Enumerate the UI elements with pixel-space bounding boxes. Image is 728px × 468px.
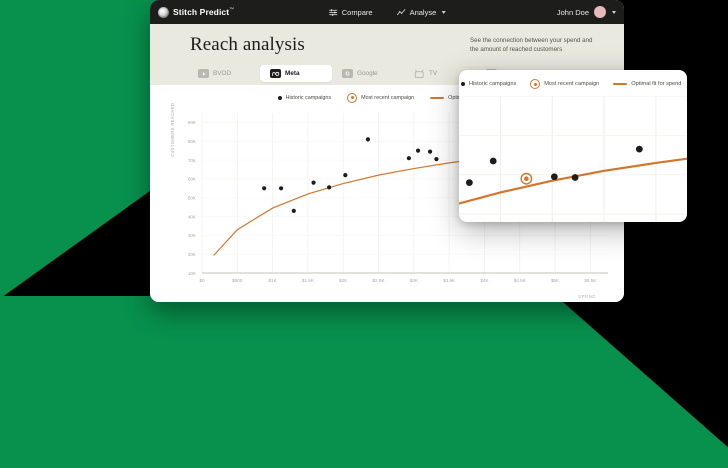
legend-dot-icon — [461, 82, 465, 86]
svg-text:$1.5K: $1.5K — [302, 278, 315, 283]
nav-item-compare[interactable]: Compare — [329, 8, 373, 17]
svg-text:30K: 30K — [188, 233, 197, 238]
page-subtitle: See the connection between your spend an… — [470, 37, 594, 55]
stitch-predict-logo-icon — [158, 7, 169, 18]
popup-legend-label-fit: Optimal fit for spend — [631, 81, 681, 87]
google-g-icon: G — [342, 69, 353, 78]
svg-text:90K: 90K — [188, 120, 197, 125]
tab-label-google: Google — [357, 70, 378, 77]
svg-text:$2K: $2K — [339, 278, 348, 283]
nav-label-compare: Compare — [342, 8, 373, 17]
user-menu[interactable]: John Doe — [557, 6, 616, 18]
svg-text:$1K: $1K — [269, 278, 278, 283]
nav-item-analyse[interactable]: Analyse — [397, 8, 446, 17]
chevron-down-icon — [441, 11, 445, 14]
legend-dot-icon — [278, 96, 282, 100]
svg-text:60K: 60K — [188, 177, 197, 182]
svg-text:$4.5K: $4.5K — [514, 278, 527, 283]
magnified-scatter-svg — [459, 96, 687, 222]
svg-text:70K: 70K — [188, 158, 197, 163]
analytics-icon — [397, 8, 406, 17]
svg-text:$3.5K: $3.5K — [443, 278, 456, 283]
popup-legend-item-recent: Most recent campaign — [530, 79, 599, 89]
app-topbar: Stitch Predict™ — [150, 0, 624, 24]
chevron-down-icon — [612, 11, 616, 14]
brand-logo[interactable]: Stitch Predict™ — [158, 7, 234, 18]
legend-line-icon — [613, 83, 627, 85]
legend-label-historic: Historic campaigns — [286, 95, 332, 101]
svg-text:40K: 40K — [188, 214, 197, 219]
tab-label-meta: Meta — [285, 70, 300, 77]
nav-label-analyse: Analyse — [410, 8, 437, 17]
popup-legend-label-historic: Historic campaigns — [469, 81, 516, 87]
tv-icon — [414, 69, 425, 78]
tab-meta[interactable]: Meta — [260, 65, 332, 82]
legend-item-recent: Most recent campaign — [347, 93, 414, 103]
svg-text:G: G — [345, 72, 349, 78]
svg-text:20K: 20K — [188, 252, 197, 257]
tab-label-bvod: BVOD — [213, 70, 231, 77]
tab-google[interactable]: G Google — [332, 65, 404, 82]
trademark-symbol: ™ — [229, 7, 234, 13]
page-title: Reach analysis — [190, 35, 305, 54]
sliders-icon — [329, 8, 338, 17]
svg-text:80K: 80K — [188, 139, 197, 144]
meta-icon — [270, 69, 281, 78]
svg-text:$4K: $4K — [480, 278, 489, 283]
top-navigation: Compare Analyse — [329, 8, 446, 17]
decorative-green-wedge-bottom — [0, 296, 728, 468]
tab-bvod[interactable]: BVOD — [188, 65, 260, 82]
popup-legend: Historic campaigns Most recent campaign … — [459, 70, 687, 89]
y-axis-label: CUSTOMERS REACHED — [170, 103, 175, 157]
user-name-label: John Doe — [557, 8, 589, 17]
legend-label-recent: Most recent campaign — [361, 95, 414, 101]
svg-text:$500: $500 — [232, 278, 243, 283]
screenshot-stage: Stitch Predict™ — [0, 0, 728, 468]
avatar — [594, 6, 606, 18]
legend-ring-icon — [530, 79, 540, 89]
svg-text:50K: 50K — [188, 195, 197, 200]
svg-text:$3K: $3K — [410, 278, 419, 283]
popup-legend-item-fit: Optimal fit for spend — [613, 81, 681, 87]
svg-text:$2.5K: $2.5K — [373, 278, 386, 283]
brand-name: Stitch Predict™ — [173, 7, 234, 17]
svg-text:$0: $0 — [199, 278, 205, 283]
svg-text:$5.5K: $5.5K — [584, 278, 597, 283]
legend-item-historic: Historic campaigns — [278, 95, 332, 101]
svg-text:10K: 10K — [188, 271, 197, 276]
popup-legend-item-historic: Historic campaigns — [461, 81, 516, 87]
x-axis-label: SPEND — [578, 294, 596, 299]
page-header: Reach analysis See the connection betwee… — [150, 24, 624, 63]
popup-legend-label-recent: Most recent campaign — [544, 81, 599, 87]
tab-label-tv: TV — [429, 70, 437, 77]
svg-text:$5K: $5K — [551, 278, 560, 283]
legend-ring-icon — [347, 93, 357, 103]
magnifier-popup: Historic campaigns Most recent campaign … — [459, 70, 687, 222]
play-icon — [198, 69, 209, 78]
legend-line-icon — [430, 97, 444, 99]
